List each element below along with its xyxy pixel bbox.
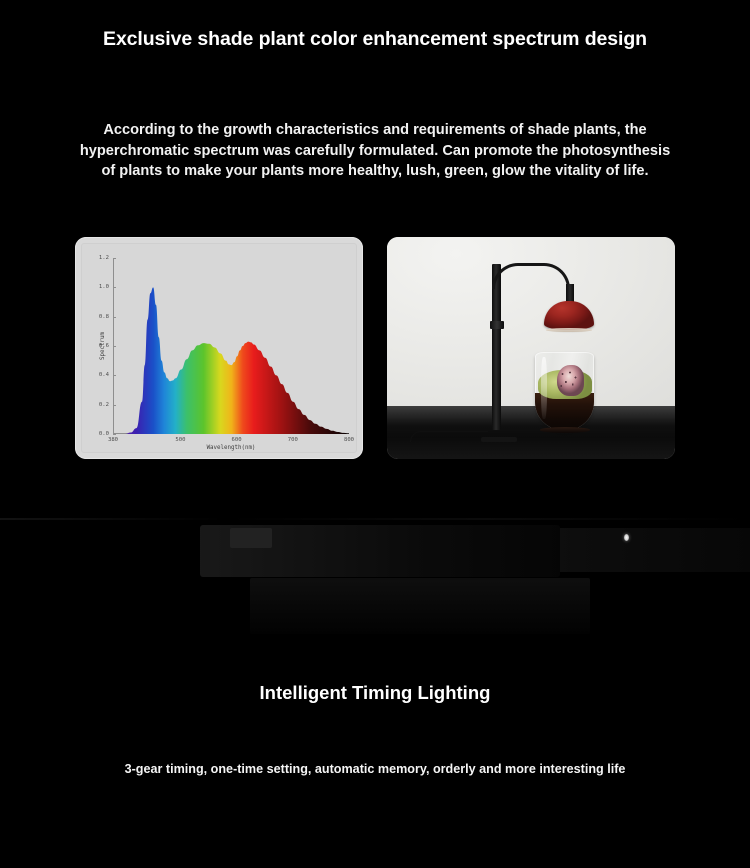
glass-highlight — [541, 357, 546, 419]
dark-product-band — [0, 470, 750, 660]
power-cord — [410, 431, 488, 442]
page-title: Exclusive shade plant color enhancement … — [0, 28, 750, 51]
spectrum-area-series — [114, 258, 349, 434]
spectrum-chart-panel: 0.0 0.2 0.4 0.6 0.8 1.0 1.2 380 500 600 … — [75, 237, 363, 459]
glass-terrarium — [535, 352, 594, 430]
band-shape-lower — [250, 578, 590, 634]
x-tick-label: 500 — [175, 434, 185, 443]
chart-canvas: 0.0 0.2 0.4 0.6 0.8 1.0 1.2 380 500 600 … — [81, 243, 357, 453]
y-tick-label: 0.8 — [99, 314, 113, 320]
x-tick-label: 380 — [108, 434, 118, 443]
panels-row: 0.0 0.2 0.4 0.6 0.8 1.0 1.2 380 500 600 … — [75, 237, 675, 459]
band-light-streak — [0, 518, 750, 520]
band-shape-accent — [230, 528, 272, 548]
lamp-base — [481, 437, 517, 442]
y-axis-label: Spectrum — [100, 332, 106, 360]
terrarium-flower-buds — [558, 368, 582, 393]
x-tick-label: 800 — [344, 434, 354, 443]
lamp-terrarium-photo-panel — [387, 237, 675, 459]
lamp-height-joint — [490, 321, 504, 329]
lamp-arm — [492, 263, 570, 290]
tabletop-reflection — [387, 406, 675, 426]
led-highlight-icon — [624, 534, 629, 541]
plot-area: 0.0 0.2 0.4 0.6 0.8 1.0 1.2 380 500 600 … — [113, 258, 349, 434]
y-tick-label: 1.0 — [99, 284, 113, 290]
terrarium-base-shadow — [540, 427, 590, 433]
intro-paragraph: According to the growth characteristics … — [75, 120, 675, 182]
x-tick-label: 600 — [232, 434, 242, 443]
product-detail-page: Exclusive shade plant color enhancement … — [0, 0, 750, 868]
y-tick-label: 1.2 — [99, 255, 113, 261]
x-tick-label: 700 — [288, 434, 298, 443]
section-title-timing: Intelligent Timing Lighting — [0, 682, 750, 704]
y-tick-label: 0.4 — [99, 372, 113, 378]
section-caption-timing: 3-gear timing, one-time setting, automat… — [0, 762, 750, 776]
y-tick-label: 0.2 — [99, 402, 113, 408]
x-axis-label: Wavelength(nm) — [207, 445, 256, 451]
band-shape-right — [560, 528, 750, 572]
lamp-shade-rim — [546, 328, 592, 332]
